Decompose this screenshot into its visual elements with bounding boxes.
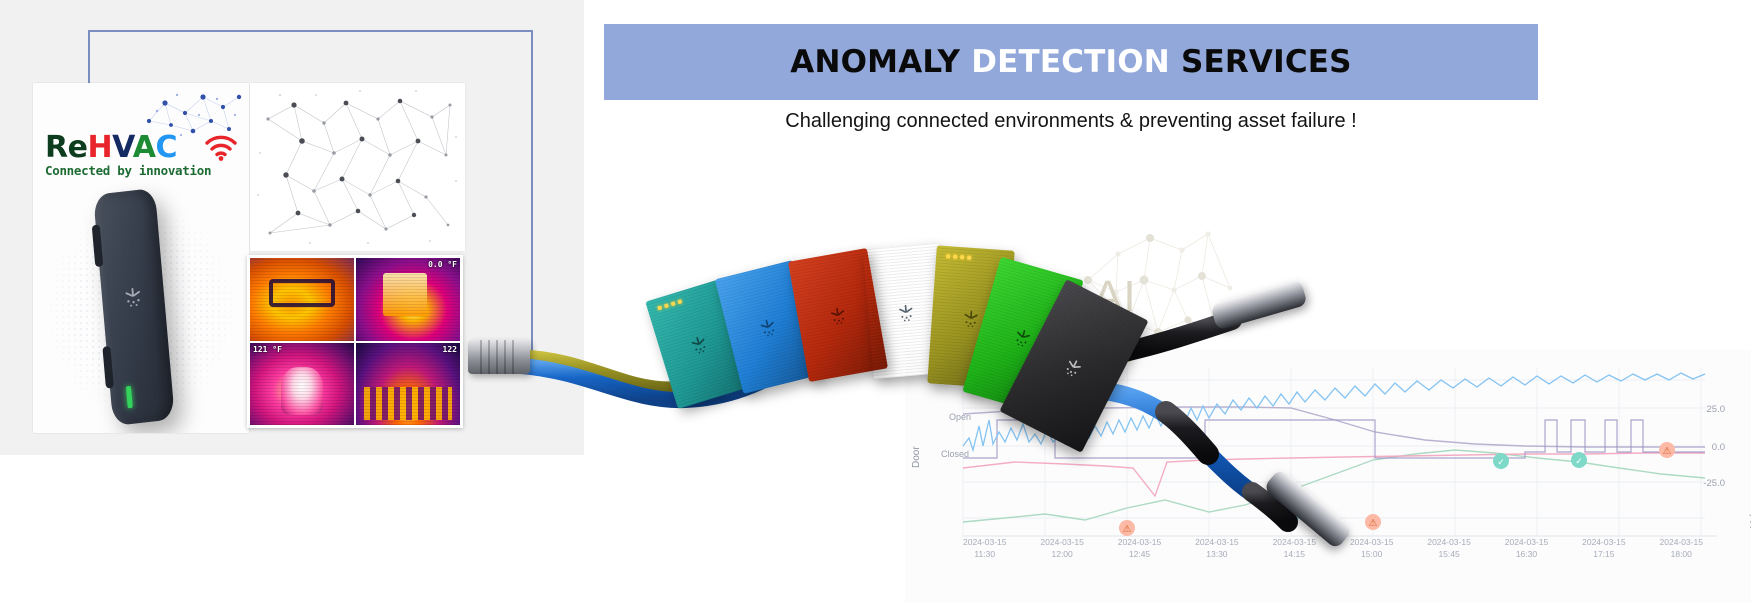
thermal-label-3: 121 °F — [253, 345, 282, 354]
chart-xtick: 2024-03-15 15:00 — [1350, 536, 1393, 576]
module-brand-mark-icon — [687, 334, 712, 359]
svg-text:⚠: ⚠ — [1369, 518, 1378, 529]
module-brand-mark-icon — [895, 303, 917, 325]
device-card: ReHVAC Connected by innovation — [33, 83, 249, 433]
thermal-imaging-collage: 0.0 °F 121 °F 122 — [247, 255, 463, 428]
chart-xtick: 2024-03-15 12:00 — [1040, 536, 1083, 576]
network-graphic-card — [250, 83, 465, 251]
chart-ytick-right-2: 0.0 — [1712, 442, 1725, 453]
chart-xtick: 2024-03-15 18:00 — [1660, 536, 1703, 576]
module-brand-mark-icon — [827, 306, 850, 329]
xtick-date: 2024-03-15 — [1118, 536, 1161, 548]
chart-ytick-right-3: -25.0 — [1703, 478, 1725, 489]
banner-stage: ReHVAC Connected by innovation — [0, 0, 1751, 603]
chart-xtick: 2024-03-15 15:45 — [1427, 536, 1470, 576]
thermal-image-2: 0.0 °F — [356, 258, 460, 341]
svg-text:✓: ✓ — [1287, 513, 1295, 523]
ai-label: AI — [1093, 272, 1137, 322]
module-brand-mark-icon — [756, 317, 780, 341]
svg-text:⚠: ⚠ — [1663, 446, 1672, 457]
chart-xtick: 2024-03-15 11:30 — [963, 536, 1006, 576]
xtick-time: 17:15 — [1582, 548, 1625, 560]
xtick-date: 2024-03-15 — [1582, 536, 1625, 548]
header-banner: ANOMALY DETECTION SERVICES — [604, 24, 1538, 100]
thermal-label-2: 0.0 °F — [428, 260, 457, 269]
xtick-time: 16:30 — [1505, 548, 1548, 560]
xtick-time: 15:00 — [1350, 548, 1393, 560]
subtitle-text: Challenging connected environments & pre… — [604, 110, 1538, 133]
logo-re: Re — [45, 130, 87, 165]
device-brand-mark-icon — [121, 286, 145, 310]
chart-xtick: 2024-03-15 12:45 — [1118, 536, 1161, 576]
xtick-time: 13:30 — [1195, 548, 1238, 560]
anomaly-timeseries-chart: ⚠ ✓ ⚠ ✓ ✓ ⚠ Door Values Open Closed 25.0… — [905, 350, 1751, 603]
sensor-module-teal — [645, 279, 752, 409]
logo-a: A — [133, 130, 156, 165]
logo-v: V — [112, 130, 133, 165]
chart-ytick-right-1: 25.0 — [1707, 404, 1726, 415]
xtick-date: 2024-03-15 — [1040, 536, 1083, 548]
thermal-image-4: 122 — [356, 343, 460, 426]
chart-ytick-closed: Closed — [941, 449, 969, 459]
sensor-module-blue — [715, 260, 821, 394]
xtick-time: 12:00 — [1040, 548, 1083, 560]
chart-x-axis-ticks: 2024-03-15 11:30 2024-03-15 12:00 2024-0… — [905, 536, 1751, 576]
xtick-date: 2024-03-15 — [1273, 536, 1316, 548]
module-brand-mark-icon — [1010, 326, 1035, 351]
chart-xtick: 2024-03-15 17:15 — [1582, 536, 1625, 576]
thermal-scanline-overlay — [356, 258, 460, 341]
thermal-scanline-overlay — [250, 258, 354, 341]
xtick-date: 2024-03-15 — [1505, 536, 1548, 548]
brand-logo: ReHVAC Connected by innovation — [33, 91, 249, 177]
thermal-scanline-overlay — [356, 343, 460, 426]
logo-tagline: Connected by innovation — [45, 163, 211, 178]
xtick-date: 2024-03-15 — [1350, 536, 1393, 548]
logo-h: H — [87, 130, 112, 165]
logo-c: C — [155, 130, 177, 165]
xtick-time: 18:00 — [1660, 548, 1703, 560]
ai-network-watermark-icon — [1040, 210, 1250, 360]
title-anomaly: ANOMALY — [790, 44, 971, 80]
chart-y-axis-left-label: Door — [911, 446, 922, 468]
xtick-date: 2024-03-15 — [1427, 536, 1470, 548]
module-brand-mark-icon — [960, 309, 981, 330]
xtick-date: 2024-03-15 — [1195, 536, 1238, 548]
chart-xtick: 2024-03-15 13:30 — [1195, 536, 1238, 576]
xtick-time: 11:30 — [963, 548, 1006, 560]
svg-text:✓: ✓ — [1575, 457, 1583, 467]
svg-text:⚠: ⚠ — [1123, 524, 1132, 535]
device-status-led — [126, 386, 133, 408]
chart-xtick: 2024-03-15 16:30 — [1505, 536, 1548, 576]
page-title: ANOMALY DETECTION SERVICES — [790, 44, 1351, 80]
xtick-time: 15:45 — [1427, 548, 1470, 560]
xtick-date: 2024-03-15 — [963, 536, 1006, 548]
title-services: SERVICES — [1170, 44, 1352, 80]
wifi-icon — [201, 129, 241, 161]
title-detection: DETECTION — [971, 44, 1170, 80]
network-graph-image — [250, 83, 465, 251]
xtick-time: 14:15 — [1273, 548, 1316, 560]
xtick-time: 12:45 — [1118, 548, 1161, 560]
sensor-module-red — [788, 248, 888, 382]
temperature-probe-upper — [1210, 280, 1308, 331]
svg-text:✓: ✓ — [1497, 458, 1505, 468]
thermal-image-1 — [250, 258, 354, 341]
thermal-scanline-overlay — [250, 343, 354, 426]
chart-xtick: 2024-03-15 14:15 — [1273, 536, 1316, 576]
thermal-image-3: 121 °F — [250, 343, 354, 426]
thermal-label-4: 122 — [443, 345, 457, 354]
chart-ytick-open: Open — [949, 412, 971, 422]
xtick-date: 2024-03-15 — [1660, 536, 1703, 548]
